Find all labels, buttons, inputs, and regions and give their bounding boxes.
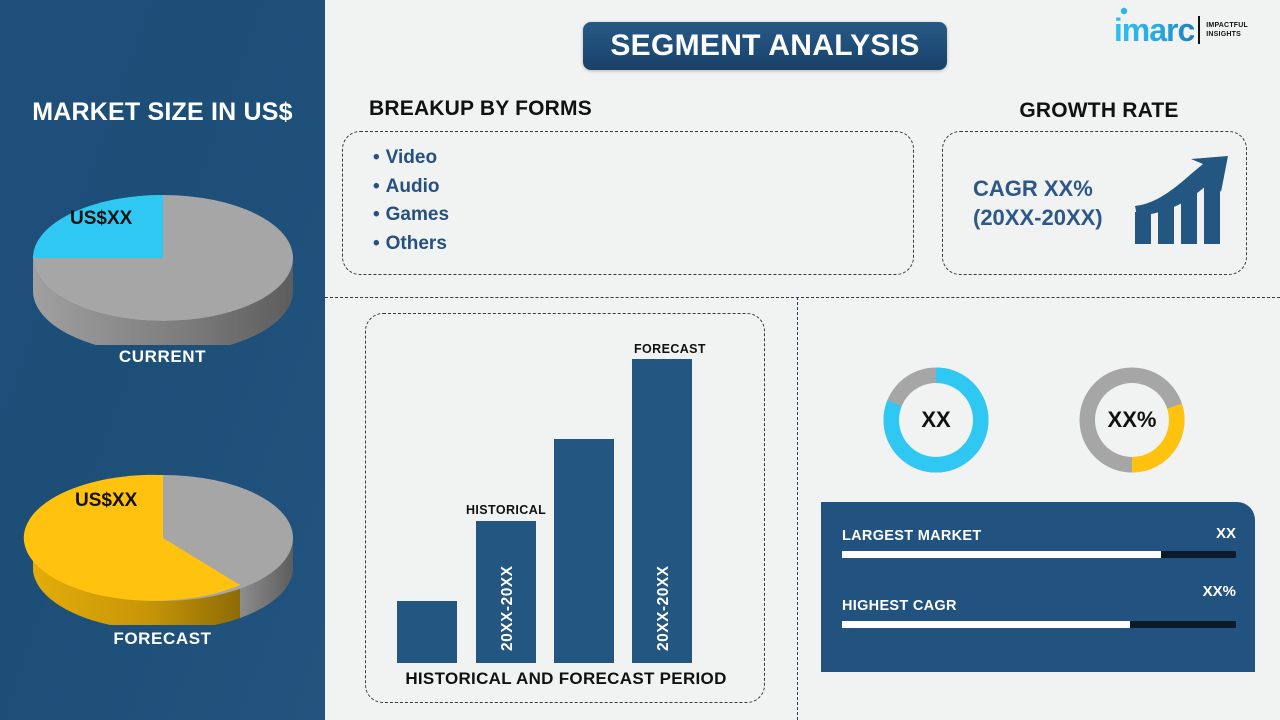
forms-item-label: Games <box>386 204 449 225</box>
imarc-logo: imarc IMPACTFUL INSIGHTS <box>1114 10 1248 50</box>
donut-1-center: XX <box>899 383 973 457</box>
bar-item <box>554 439 614 663</box>
sidebar-title: MARKET SIZE IN US$ <box>0 98 325 127</box>
list-item: •Video <box>373 144 449 173</box>
growth-period-line: (20XX-20XX) <box>973 203 1103 232</box>
progress-track <box>842 551 1236 558</box>
list-item: •Games <box>373 201 449 230</box>
forms-list: •Video •Audio •Games •Others <box>373 144 449 258</box>
list-item: •Others <box>373 230 449 259</box>
forms-section-heading: BREAKUP BY FORMS <box>369 97 592 121</box>
stat-label-highest-cagr: HIGHEST CAGR <box>842 598 957 614</box>
page-title: SEGMENT ANALYSIS <box>610 29 919 63</box>
growth-cagr-line: CAGR XX% <box>973 174 1103 203</box>
market-size-forecast-block: US$XX FORECAST <box>0 430 325 649</box>
progress-fill <box>842 551 1161 558</box>
historical-forecast-chart-panel: HISTORICAL FORECAST 20XX-20XX 20XX-20XX … <box>365 313 765 703</box>
logo-tagline-line2: INSIGHTS <box>1206 30 1248 39</box>
stat-value-largest-market: XX <box>1216 525 1236 542</box>
list-item: •Audio <box>373 173 449 202</box>
pie-current-svg <box>0 150 325 345</box>
pie-forecast-svg <box>0 430 325 625</box>
bullet-icon: • <box>373 147 380 168</box>
donut-2-center: XX% <box>1095 383 1169 457</box>
growth-arrow-bars-icon <box>1133 154 1231 246</box>
pie-forecast-value-label: US$XX <box>75 490 137 512</box>
forms-item-label: Video <box>386 147 437 168</box>
logo-dot-icon <box>1118 5 1130 17</box>
pie-current-caption: CURRENT <box>0 347 325 367</box>
bar-item <box>397 601 457 663</box>
sidebar: MARKET SIZE IN US$ US$XX <box>0 0 325 720</box>
market-stats-box: LARGEST MARKET XX HIGHEST CAGR XX% <box>821 502 1255 672</box>
pie-chart-forecast: US$XX <box>0 430 325 625</box>
donut-chart-percent: XX% <box>1077 365 1187 475</box>
vertical-divider <box>797 297 798 720</box>
stat-row: HIGHEST CAGR XX% <box>842 597 1236 628</box>
bar-period-label: 20XX-20XX <box>655 566 673 652</box>
bar-period-label: 20XX-20XX <box>499 566 517 652</box>
bullet-icon: • <box>373 233 380 254</box>
pie-chart-current: US$XX <box>0 150 325 345</box>
logo-wordmark: imarc <box>1114 14 1194 46</box>
progress-fill <box>842 621 1130 628</box>
donut-1-value: XX <box>921 407 950 433</box>
forms-item-label: Others <box>386 233 447 254</box>
stat-label-largest-market: LARGEST MARKET <box>842 528 982 544</box>
pie-current-value-label: US$XX <box>70 208 132 230</box>
bar-annotation-historical: HISTORICAL <box>466 503 546 517</box>
market-size-current-block: US$XX CURRENT <box>0 150 325 367</box>
logo-text: imarc <box>1114 12 1194 48</box>
logo-divider <box>1198 16 1200 44</box>
stat-value-highest-cagr: XX% <box>1203 583 1236 600</box>
bar-chart-axis-label: HISTORICAL AND FORECAST PERIOD <box>366 669 766 689</box>
logo-tagline-line1: IMPACTFUL <box>1206 21 1248 30</box>
bullet-icon: • <box>373 204 380 225</box>
progress-track <box>842 621 1236 628</box>
donut-chart-units: XX <box>881 365 991 475</box>
growth-section-heading: GROWTH RATE <box>939 99 1259 123</box>
donut-2-value: XX% <box>1108 407 1157 433</box>
bar-annotation-forecast: FORECAST <box>634 342 706 356</box>
growth-rate-text: CAGR XX% (20XX-20XX) <box>973 174 1103 232</box>
pie-forecast-caption: FORECAST <box>0 629 325 649</box>
forms-item-label: Audio <box>386 176 440 197</box>
logo-tagline: IMPACTFUL INSIGHTS <box>1206 21 1248 40</box>
page-title-badge: SEGMENT ANALYSIS <box>583 22 947 70</box>
bar-chart: HISTORICAL FORECAST 20XX-20XX 20XX-20XX … <box>366 314 766 704</box>
bullet-icon: • <box>373 176 380 197</box>
forms-box: •Video •Audio •Games •Others <box>342 131 914 275</box>
stat-row: LARGEST MARKET XX <box>842 527 1236 558</box>
horizontal-divider <box>325 297 1280 298</box>
growth-box: CAGR XX% (20XX-20XX) <box>942 131 1247 275</box>
main-content: SEGMENT ANALYSIS imarc IMPACTFUL INSIGHT… <box>325 0 1280 720</box>
